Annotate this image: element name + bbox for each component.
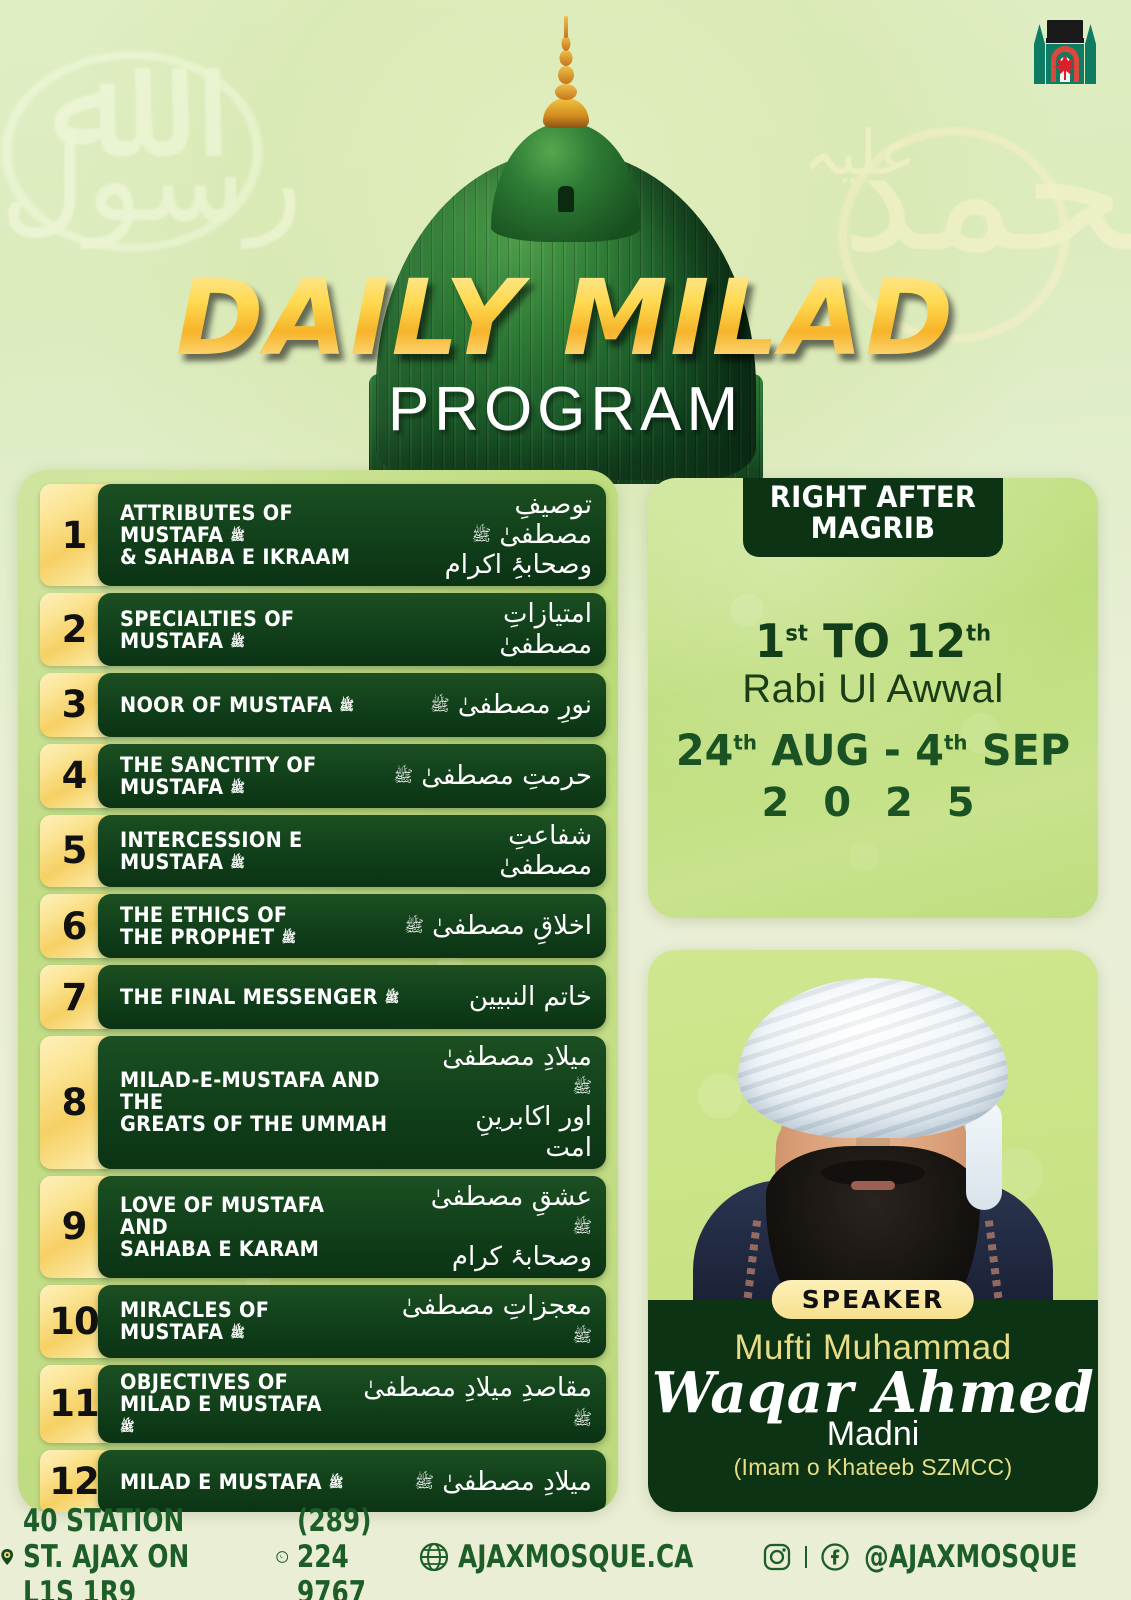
- program-row: 1ATTRIBUTES OF MUSTAFA ﷺ & SAHABA E IKRA…: [40, 484, 606, 586]
- program-row-body: SPECIALTIES OF MUSTAFA ﷺامتیازاتِ مصطفیٰ: [98, 593, 606, 665]
- year-label: 2 0 2 5: [648, 783, 1098, 823]
- program-row: 6THE ETHICS OF THE PROPHET ﷺاخلاقِ مصطفی…: [40, 894, 606, 958]
- program-rows-container: 1ATTRIBUTES OF MUSTAFA ﷺ & SAHABA E IKRA…: [18, 470, 618, 1512]
- program-row-urdu: مقاصدِ میلادِ مصطفیٰ ﷺ: [354, 1373, 592, 1433]
- page-title: DAILY MILAD: [0, 268, 1131, 370]
- program-row-body: THE SANCTITY OF MUSTAFA ﷺحرمتِ مصطفیٰ ﷺ: [98, 744, 606, 808]
- program-row-urdu: معجزاتِ مصطفیٰ ﷺ: [399, 1291, 592, 1351]
- program-row-english: MILAD-E-MUSTAFA AND THE GREATS OF THE UM…: [120, 1069, 400, 1135]
- program-row: 5INTERCESSION E MUSTAFA ﷺشفاعتِ مصطفیٰ: [40, 815, 606, 887]
- footer-address-text: 40 STATION ST. AJAX ON L1S 1R9: [23, 1503, 216, 1600]
- program-row: 9LOVE OF MUSTAFA AND SAHABA E KARAMعشقِ …: [40, 1176, 606, 1278]
- speaker-info: SPEAKER Mufti Muhammad Waqar Ahmed Madni…: [648, 1300, 1098, 1512]
- program-row-urdu: شفاعتِ مصطفیٰ: [429, 821, 592, 881]
- program-row-body: ATTRIBUTES OF MUSTAFA ﷺ & SAHABA E IKRAA…: [98, 484, 606, 586]
- program-row-urdu: میلادِ مصطفیٰ ﷺ اور اکابرینِ امت: [432, 1042, 592, 1163]
- location-pin-icon: [0, 1536, 14, 1578]
- speaker-role: (Imam o Khateeb SZMCC): [648, 1454, 1098, 1481]
- program-row-english: OBJECTIVES OF MILAD E MUSTAFA ﷺ: [120, 1371, 328, 1437]
- program-row-body: THE FINAL MESSENGER ﷺخاتم النبیین: [98, 965, 606, 1029]
- program-row: 11OBJECTIVES OF MILAD E MUSTAFA ﷺمقاصدِ …: [40, 1365, 606, 1443]
- footer-phone-text: (289) 224 9767: [297, 1503, 385, 1600]
- program-row: 8MILAD-E-MUSTAFA AND THE GREATS OF THE U…: [40, 1036, 606, 1169]
- program-row-urdu: میلادِ مصطفیٰ ﷺ: [415, 1467, 593, 1497]
- poster-title-block: DAILY MILAD PROGRAM: [0, 268, 1131, 445]
- speaker-badge: SPEAKER: [772, 1280, 974, 1319]
- program-row-urdu: امتیازاتِ مصطفیٰ: [423, 599, 592, 659]
- program-row-english: ATTRIBUTES OF MUSTAFA ﷺ & SAHABA E IKRAA…: [120, 502, 383, 568]
- footer-website-text: AJAXMOSQUE.CA: [458, 1539, 693, 1575]
- program-row-english: MIRACLES OF MUSTAFA ﷺ: [120, 1299, 369, 1343]
- magrib-line-2: MAGRIB: [756, 513, 989, 544]
- program-row-urdu: خاتم النبیین: [469, 982, 592, 1012]
- program-row: 3NOOR OF MUSTAFA ﷺنورِ مصطفیٰ ﷺ: [40, 673, 606, 737]
- program-row-body: NOOR OF MUSTAFA ﷺنورِ مصطفیٰ ﷺ: [98, 673, 606, 737]
- ajax-mosque-logo-icon: [1021, 14, 1109, 92]
- calligraphy-watermark-left-icon: ﷲ رسول: [0, 0, 390, 300]
- footer-bar: 40 STATION ST. AJAX ON L1S 1R9 (289) 224…: [0, 1514, 1131, 1600]
- program-row-english: MILAD E MUSTAFA ﷺ: [120, 1471, 343, 1493]
- program-row-body: LOVE OF MUSTAFA AND SAHABA E KARAMعشقِ م…: [98, 1176, 606, 1278]
- page-subtitle: PROGRAM: [0, 374, 1131, 445]
- magrib-banner: RIGHT AFTER MAGRIB: [743, 478, 1003, 557]
- globe-icon: [419, 1542, 449, 1572]
- facebook-icon[interactable]: [821, 1543, 849, 1571]
- program-row-urdu: توصیفِ مصطفیٰ ﷺ وصحابۂِ اکرام: [414, 490, 592, 580]
- hijri-month: Rabi Ul Awwal: [648, 668, 1098, 710]
- footer-phone[interactable]: (289) 224 9767: [276, 1503, 408, 1600]
- program-row-english: SPECIALTIES OF MUSTAFA ﷺ: [120, 608, 392, 652]
- magrib-line-1: RIGHT AFTER: [756, 482, 989, 513]
- program-row-english: THE ETHICS OF THE PROPHET ﷺ: [120, 904, 296, 948]
- program-row: 2SPECIALTIES OF MUSTAFA ﷺامتیازاتِ مصطفی…: [40, 593, 606, 665]
- gregorian-date-range: 24th AUG - 4th SEP: [657, 730, 1089, 773]
- program-row: 10MIRACLES OF MUSTAFA ﷺمعجزاتِ مصطفیٰ ﷺ: [40, 1285, 606, 1357]
- program-row-urdu: اخلاقِ مصطفیٰ ﷺ: [404, 911, 592, 941]
- program-row-body: THE ETHICS OF THE PROPHET ﷺاخلاقِ مصطفیٰ…: [98, 894, 606, 958]
- phone-icon: [276, 1542, 288, 1572]
- footer-social-handle: @AJAXMOSQUE: [864, 1539, 1077, 1575]
- footer-address: 40 STATION ST. AJAX ON L1S 1R9: [0, 1503, 265, 1600]
- hijri-date-range: 1st TO 12th: [659, 618, 1087, 664]
- program-list-panel: 1ATTRIBUTES OF MUSTAFA ﷺ & SAHABA E IKRA…: [18, 470, 618, 1512]
- speaker-card: SPEAKER Mufti Muhammad Waqar Ahmed Madni…: [648, 950, 1098, 1512]
- date-details: 1st TO 12th Rabi Ul Awwal 24th AUG - 4th…: [648, 618, 1098, 823]
- footer-website[interactable]: AJAXMOSQUE.CA: [419, 1539, 752, 1575]
- program-row-english: THE SANCTITY OF MUSTAFA ﷺ: [120, 754, 317, 798]
- footer-social[interactable]: @AJAXMOSQUE: [763, 1539, 1131, 1575]
- schedule-card: RIGHT AFTER MAGRIB 1st TO 12th Rabi Ul A…: [648, 478, 1098, 918]
- social-divider: [805, 1546, 807, 1568]
- program-row: 4THE SANCTITY OF MUSTAFA ﷺحرمتِ مصطفیٰ ﷺ: [40, 744, 606, 808]
- program-row-english: LOVE OF MUSTAFA AND SAHABA E KARAM: [120, 1194, 376, 1260]
- program-row-urdu: عشقِ مصطفیٰ ﷺ وصحابۂ کرام: [406, 1182, 592, 1272]
- program-row-english: THE FINAL MESSENGER ﷺ: [120, 986, 399, 1008]
- program-row-body: MIRACLES OF MUSTAFA ﷺمعجزاتِ مصطفیٰ ﷺ: [98, 1285, 606, 1357]
- program-row-english: INTERCESSION E MUSTAFA ﷺ: [120, 829, 397, 873]
- speaker-name: Waqar Ahmed: [648, 1365, 1098, 1421]
- program-row-body: INTERCESSION E MUSTAFA ﷺشفاعتِ مصطفیٰ: [98, 815, 606, 887]
- program-row-body: OBJECTIVES OF MILAD E MUSTAFA ﷺمقاصدِ می…: [98, 1365, 606, 1443]
- program-row-urdu: نورِ مصطفیٰ ﷺ: [430, 690, 592, 720]
- program-row-english: NOOR OF MUSTAFA ﷺ: [120, 694, 354, 716]
- poster-root: ﷲ رسول محمد علیہ DAILY MILAD PROGRAM: [0, 0, 1131, 1600]
- program-row: 7THE FINAL MESSENGER ﷺخاتم النبیین: [40, 965, 606, 1029]
- instagram-icon[interactable]: [763, 1543, 791, 1571]
- program-row-body: MILAD-E-MUSTAFA AND THE GREATS OF THE UM…: [98, 1036, 606, 1169]
- program-row-urdu: حرمتِ مصطفیٰ ﷺ: [394, 761, 593, 791]
